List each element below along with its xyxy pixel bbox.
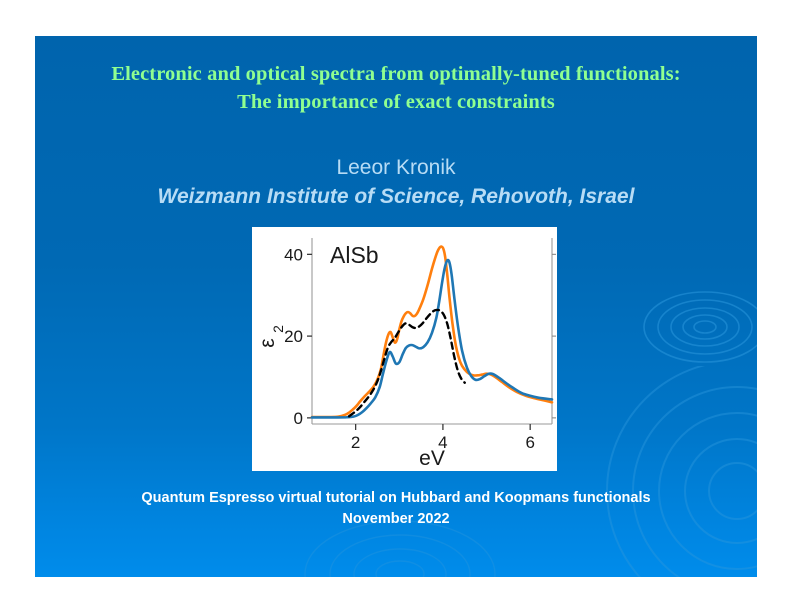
author-name: Leeor Kronik [35, 153, 757, 182]
footer-line-1: Quantum Espresso virtual tutorial on Hub… [35, 488, 757, 509]
slide-footer: Quantum Espresso virtual tutorial on Hub… [35, 488, 757, 530]
chart-canvas: 02040 246 ε 2 eV AlSb [252, 227, 557, 471]
ripple-icon-bottom-right [557, 366, 757, 577]
y-tick-label: 0 [294, 409, 303, 428]
y-axis-label-epsilon: ε [256, 338, 279, 347]
presentation-slide: Electronic and optical spectra from opti… [35, 36, 757, 577]
x-axis-label: eV [419, 447, 445, 470]
title-line-2: The importance of exact constraints [35, 88, 757, 116]
author-block: Leeor Kronik Weizmann Institute of Scien… [35, 153, 757, 212]
y-axis-label-subscript: 2 [270, 325, 286, 333]
footer-line-2: November 2022 [35, 509, 757, 530]
y-tick-label: 20 [284, 327, 303, 346]
x-tick-label: 2 [351, 433, 360, 452]
title-line-1: Electronic and optical spectra from opti… [35, 60, 757, 88]
y-tick-label: 40 [284, 245, 303, 264]
screenshot-canvas: Electronic and optical spectra from opti… [0, 0, 792, 612]
x-tick-label: 6 [525, 433, 534, 452]
ripple-icon-top-right [635, 272, 757, 382]
author-affiliation: Weizmann Institute of Science, Rehovoth,… [35, 182, 757, 212]
chart-annotation-alsb: AlSb [330, 242, 379, 268]
spectrum-figure: 02040 246 ε 2 eV AlSb [252, 227, 557, 471]
page-title: Electronic and optical spectra from opti… [35, 60, 757, 116]
